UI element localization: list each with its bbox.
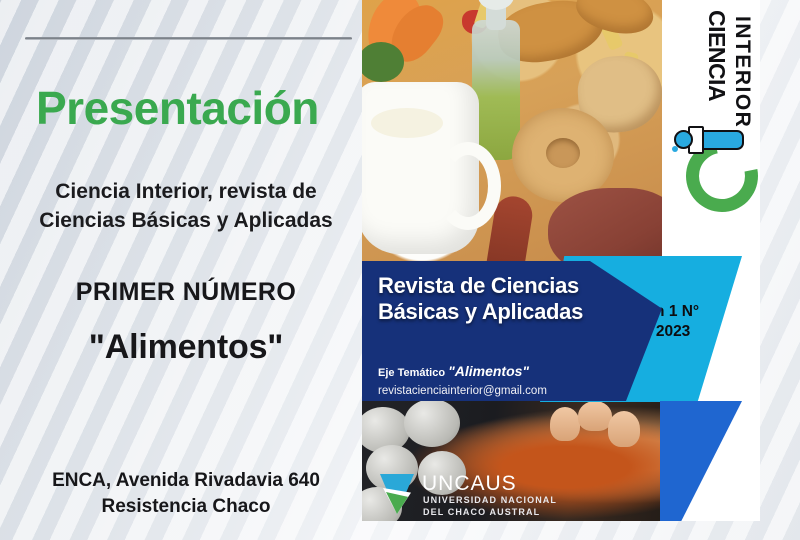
title-divider [25,37,352,40]
cover-theme-label: Eje Temático [378,367,445,379]
egg-icon [404,401,460,447]
food-photo-top [362,0,662,268]
uncaus-logo: UNCAUS UNIVERSIDAD NACIONAL DEL CHACO AU… [380,472,580,518]
uncaus-name: UNCAUS [422,472,517,496]
shrimp-icon [608,411,640,447]
logo-mark [672,120,756,186]
cover-theme-value: "Alimentos" [448,363,529,379]
shrimp-icon [550,407,580,441]
headline-text: "Alimentos" [16,328,356,367]
page-title: Presentación [36,85,356,131]
bubble-small-icon [672,146,678,152]
milk-jug-icon [362,82,479,254]
cover-banner-title: Revista de Ciencias Básicas y Aplicadas [378,273,588,325]
shrimp-icon [578,401,612,431]
ciencia-interior-logo: CIENCIA INTERIOR [668,4,758,188]
venue-text: ENCA, Avenida Rivadavia 640 Resistencia … [16,468,356,520]
kicker-text: PRIMER NÚMERO [16,278,356,307]
cover-email: revistacienciainterior@gmail.com [378,385,608,397]
uncaus-subtitle: UNIVERSIDAD NACIONAL DEL CHACO AUSTRAL [423,495,580,519]
logo-word-interior: INTERIOR [730,16,754,128]
milk-surface [371,108,443,138]
slide-root: Presentación Ciencia Interior, revista d… [0,0,800,540]
cover-theme-line: Eje Temático "Alimentos" [378,363,598,379]
oil-bottle-icon [472,20,520,160]
logo-word-ciencia: CIENCIA [703,10,730,101]
subtitle-text: Ciencia Interior, revista de Ciencias Bá… [16,178,356,236]
